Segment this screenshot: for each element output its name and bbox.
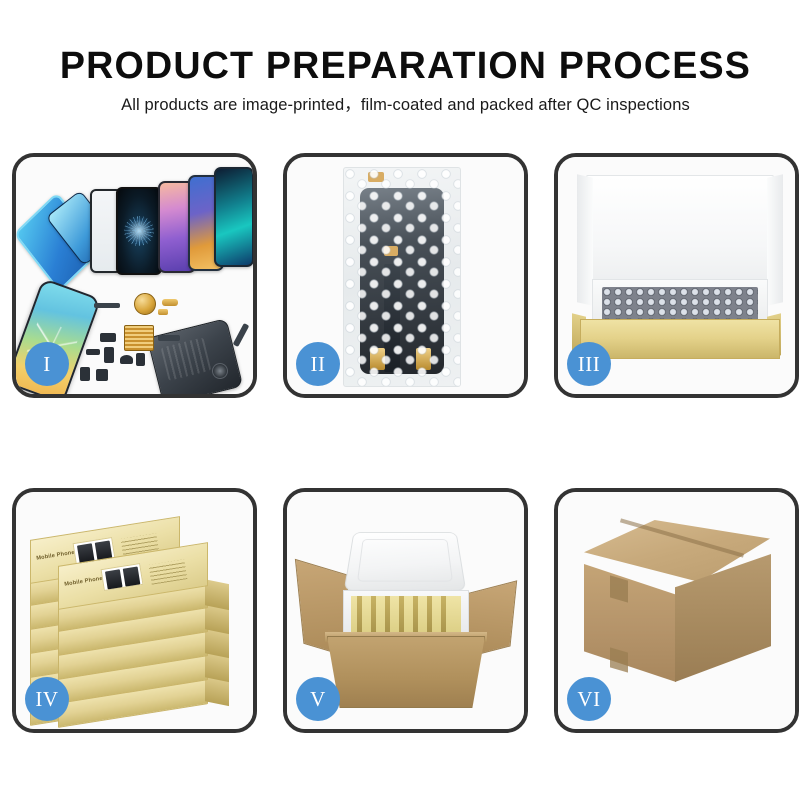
spare-part-flex: [104, 347, 114, 363]
spare-part-camera: [120, 355, 133, 364]
spare-part-cable: [158, 335, 180, 341]
step-badge-6: VI: [567, 677, 611, 721]
bubble-wrap-bag: [343, 167, 461, 387]
spare-part-connector: [162, 299, 178, 306]
bubble-texture: [344, 168, 460, 386]
spare-part-button: [96, 369, 108, 381]
carton-tape-patch-lower: [610, 647, 628, 672]
tweezers-tool: [233, 323, 250, 347]
spare-part-battery: [136, 353, 145, 366]
step-badge-5: V: [296, 677, 340, 721]
gold-boxes-inside: [351, 596, 461, 634]
teal-gradient-phone: [214, 167, 253, 267]
step-badge-1: I: [25, 342, 69, 386]
carton-left-face: [584, 564, 676, 682]
gold-chip-part: [124, 325, 154, 351]
spare-part-strip: [94, 303, 120, 308]
phone-back-housing: [147, 318, 243, 394]
step-panel-6: VI: [554, 488, 799, 733]
black-lcd-screen: [116, 187, 162, 275]
bubble-wrapped-contents: [602, 287, 758, 321]
step-badge-2: II: [296, 342, 340, 386]
page-header: PRODUCT PREPARATION PROCESS All products…: [0, 44, 811, 115]
spare-part-tray: [80, 367, 90, 381]
spare-part-contact: [158, 309, 168, 315]
step-panel-3: III: [554, 153, 799, 398]
page-subtitle: All products are image-printed，film-coat…: [0, 95, 811, 115]
step-panel-5: V: [283, 488, 528, 733]
spare-part-module: [100, 333, 116, 342]
page-title: PRODUCT PREPARATION PROCESS: [4, 44, 807, 88]
step-badge-4: IV: [25, 677, 69, 721]
step-panel-4: Mobile Phone Spare Parts Mobile Phone Sp…: [12, 488, 257, 733]
foam-box-lid: [344, 532, 467, 591]
carton-body: [327, 636, 485, 708]
step-panel-2: II: [283, 153, 528, 398]
product-preparation-infographic: PRODUCT PREPARATION PROCESS All products…: [0, 0, 811, 811]
process-steps-grid: I II: [12, 153, 801, 733]
step-panel-1: I: [12, 153, 257, 398]
step-badge-3: III: [567, 342, 611, 386]
gold-speaker-part: [134, 293, 156, 315]
gold-box-base: [580, 319, 780, 359]
spare-part-clip: [86, 349, 100, 355]
